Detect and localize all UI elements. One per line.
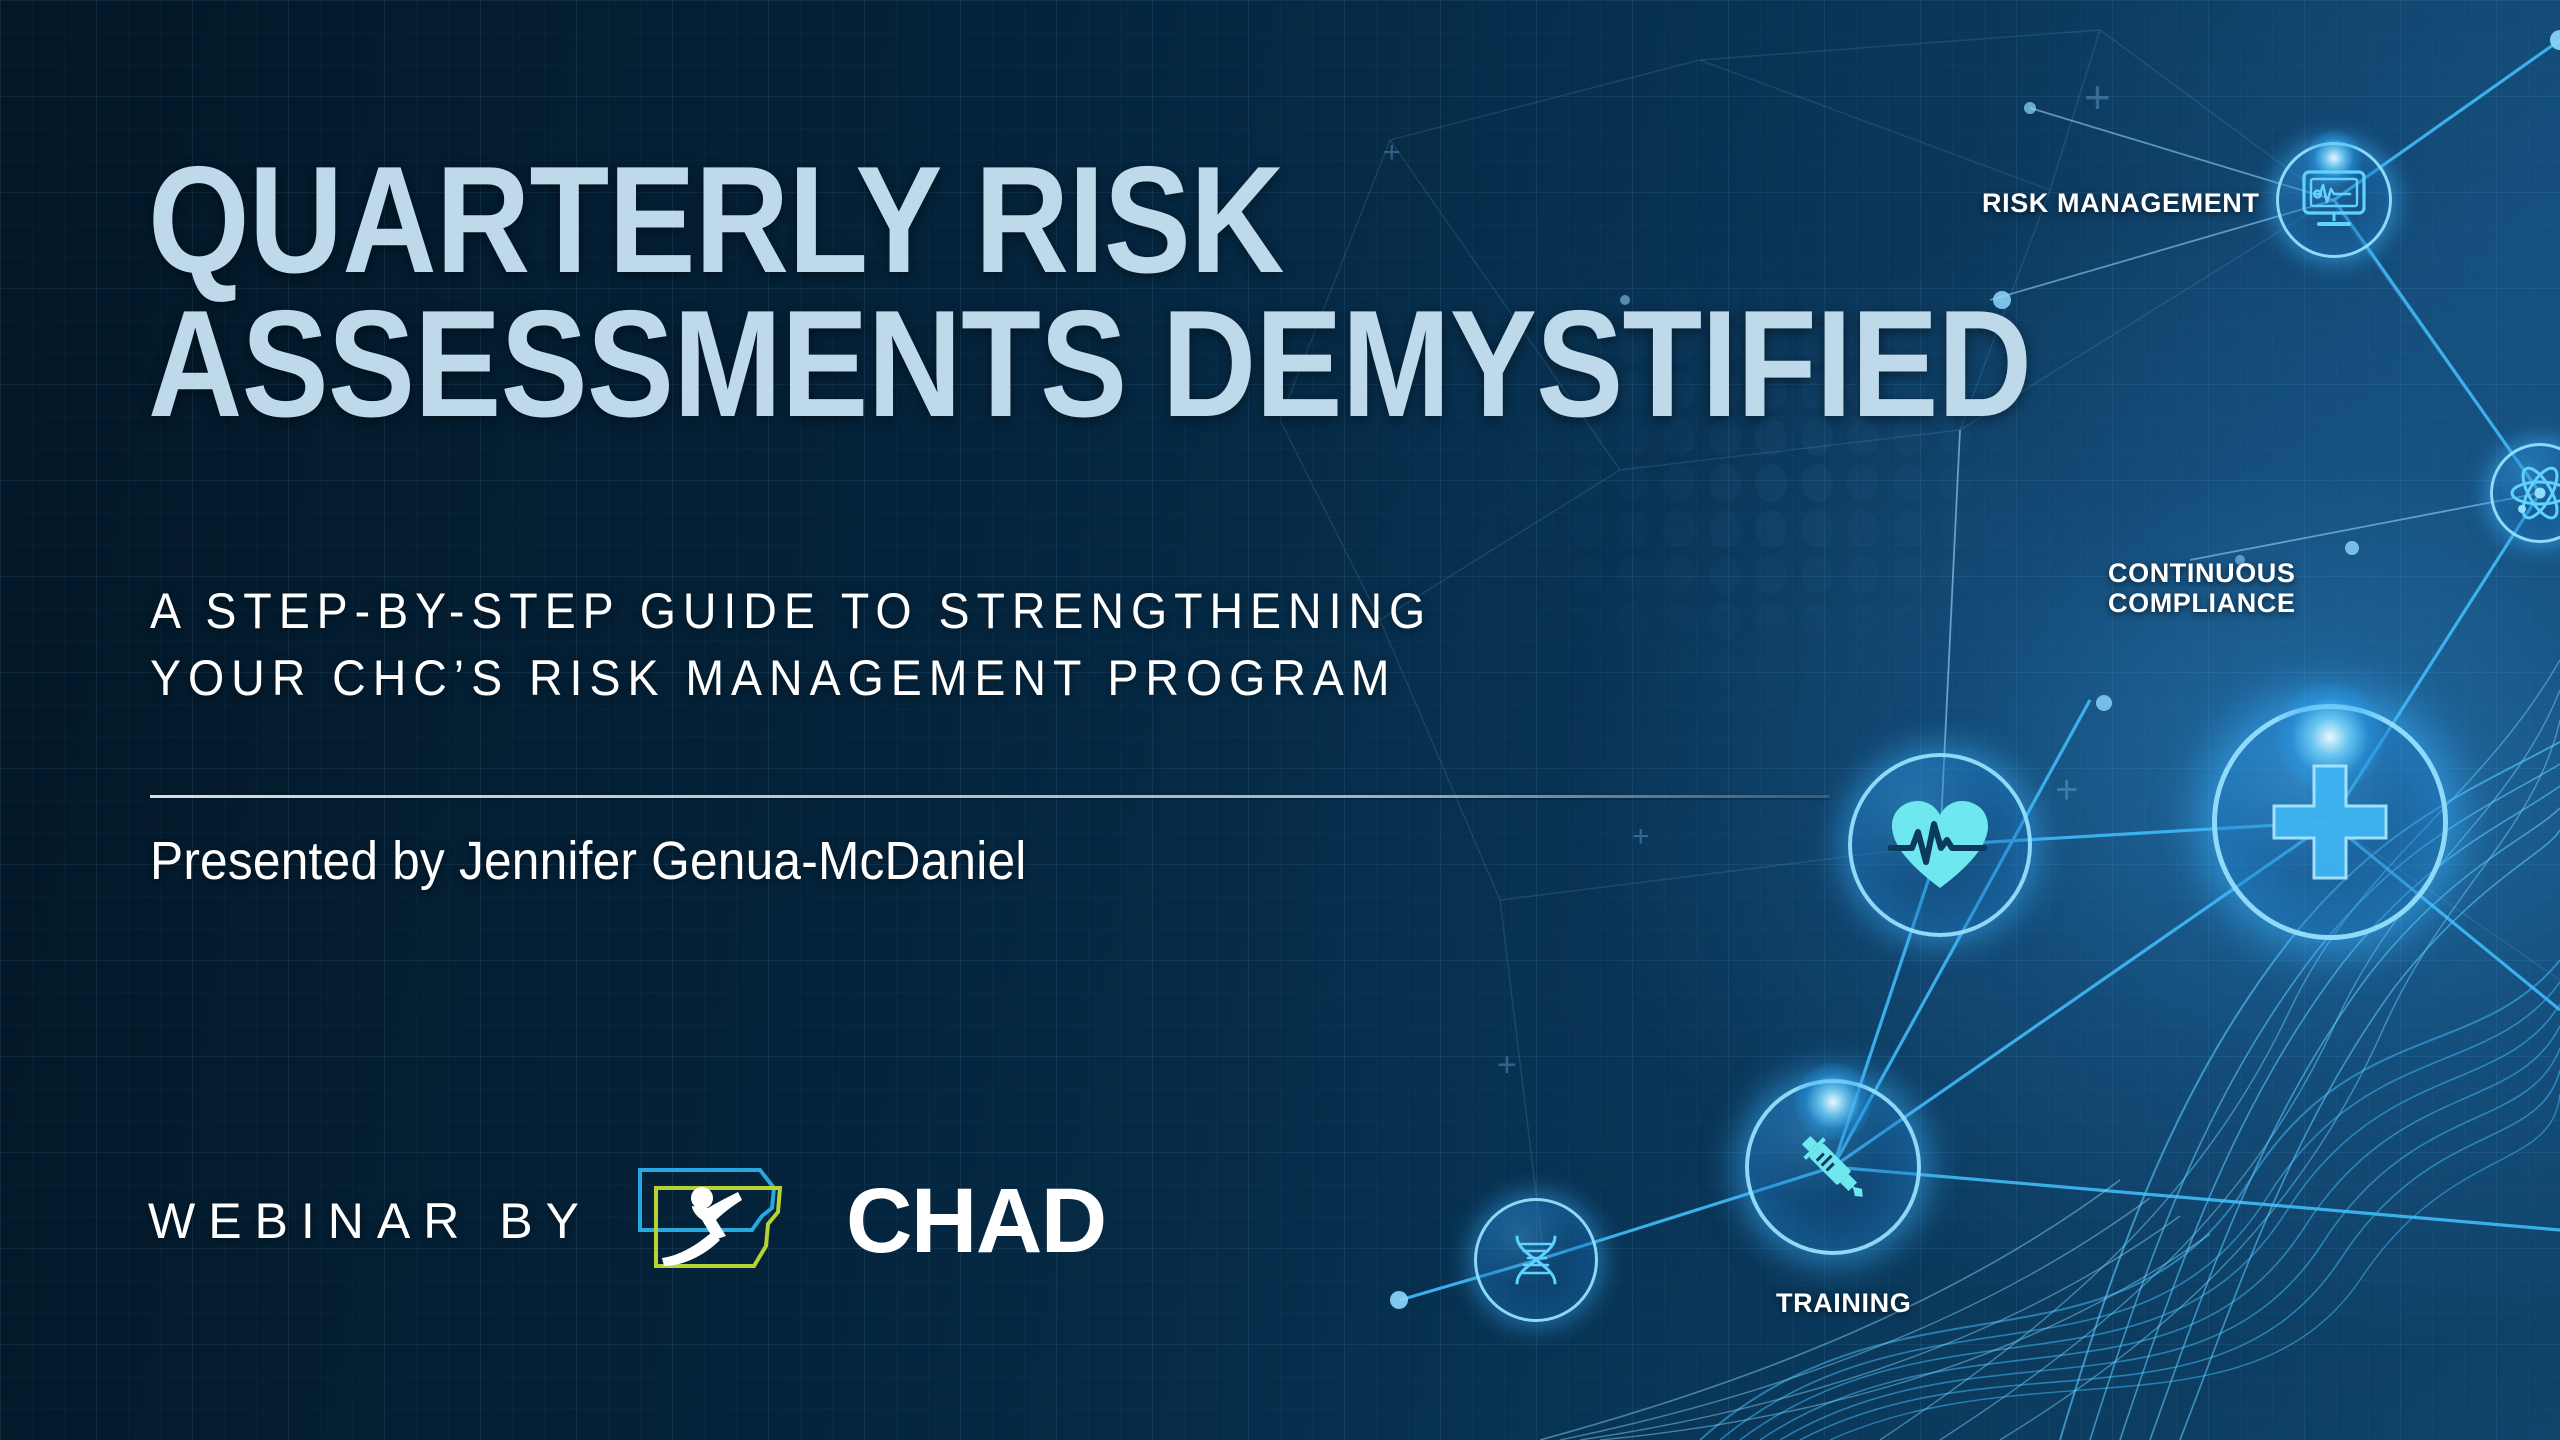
dna-icon xyxy=(1503,1227,1569,1293)
syringe-icon xyxy=(1789,1123,1877,1211)
subtitle-line-2: YOUR CHC’S RISK MANAGEMENT PROGRAM xyxy=(150,645,1917,712)
network-node-heart-pulse[interactable] xyxy=(1848,753,2032,937)
footer: WEBINAR BY CHAD xyxy=(148,1162,1106,1280)
node-label-line-2: COMPLIANCE xyxy=(2108,588,2296,618)
network-node-medical-cross[interactable] xyxy=(2212,704,2448,940)
title-line-2: ASSESSMENTS DEMYSTIFIED xyxy=(148,292,1541,436)
webinar-by-label: WEBINAR BY xyxy=(148,1192,592,1250)
slide-content: QUARTERLY RISK ASSESSMENTS DEMYSTIFIED A… xyxy=(148,0,1848,1440)
chad-logo[interactable]: CHAD xyxy=(634,1162,1106,1280)
page-subtitle: A STEP-BY-STEP GUIDE TO STRENGTHENING YO… xyxy=(150,578,1917,711)
node-label-training: TRAINING xyxy=(1776,1288,1911,1318)
node-label-line-1: CONTINUOUS xyxy=(2108,558,2296,588)
atom-icon xyxy=(2509,462,2560,524)
slide-canvas: + + + + + RISK MANAGEMENT CONTINUOUS xyxy=(0,0,2560,1440)
chad-dakotas-logo-mark-icon xyxy=(634,1162,824,1280)
heart-pulse-icon xyxy=(1888,798,1992,892)
title-line-1: QUARTERLY RISK xyxy=(148,148,1541,292)
node-label-continuous-compliance: CONTINUOUS COMPLIANCE xyxy=(2108,558,2338,618)
network-node-genomics[interactable] xyxy=(1474,1198,1598,1322)
network-node-risk-management[interactable] xyxy=(2276,142,2392,258)
subtitle-line-1: A STEP-BY-STEP GUIDE TO STRENGTHENING xyxy=(150,578,1917,645)
page-title: QUARTERLY RISK ASSESSMENTS DEMYSTIFIED xyxy=(148,148,1541,437)
divider xyxy=(150,795,1830,798)
network-node-training[interactable] xyxy=(1745,1079,1921,1255)
node-label-risk-management: RISK MANAGEMENT xyxy=(1982,188,2260,218)
medical-cross-icon xyxy=(2266,758,2394,886)
chad-wordmark: CHAD xyxy=(846,1175,1106,1267)
monitor-ecg-icon xyxy=(2301,169,2367,231)
presenter-credit: Presented by Jennifer Genua-McDaniel xyxy=(150,830,1026,892)
